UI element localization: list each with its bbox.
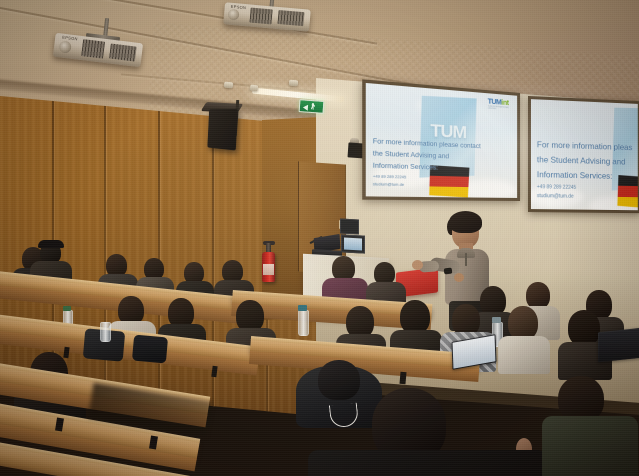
slide-right-email: studium@tum.de bbox=[537, 193, 574, 201]
slide-right: For more information pleas the Student A… bbox=[531, 99, 638, 210]
backpack bbox=[132, 335, 168, 364]
bottle-cap bbox=[492, 317, 501, 323]
exit-arrow-icon bbox=[303, 104, 308, 110]
bottle-cap bbox=[63, 306, 71, 311]
slide-left-line-3: Information Services: bbox=[373, 162, 438, 173]
slide-right-phone: +49 89 289 22245 bbox=[537, 184, 576, 192]
student-head bbox=[400, 300, 430, 334]
student-head bbox=[568, 310, 600, 346]
projector-vent bbox=[109, 44, 137, 62]
slide-right-line-1: For more information pleas bbox=[537, 139, 632, 153]
student-body bbox=[308, 450, 548, 476]
student-head bbox=[508, 306, 538, 340]
lecture-hall-photo: EPSON EPSON bbox=[0, 0, 639, 476]
cap-icon bbox=[38, 240, 64, 248]
german-flag-graphic bbox=[617, 175, 637, 209]
student-head bbox=[526, 282, 550, 309]
water-bottle bbox=[100, 322, 111, 342]
running-person-icon bbox=[311, 102, 315, 109]
ceiling-spotlight bbox=[250, 85, 259, 92]
presenter-wristwatch bbox=[444, 268, 453, 275]
projector-vent bbox=[81, 39, 105, 59]
projector-vent bbox=[249, 8, 272, 25]
wall-speaker bbox=[207, 109, 238, 151]
projector-left: EPSON bbox=[48, 18, 158, 70]
ceiling-spotlight bbox=[224, 82, 234, 89]
student-body-olive bbox=[542, 416, 638, 476]
presenter-hair bbox=[449, 211, 482, 233]
presenter-hand-gesturing bbox=[412, 260, 423, 270]
projector-body: EPSON bbox=[223, 2, 311, 31]
projector-vent bbox=[277, 10, 304, 26]
fire-extinguisher-label bbox=[263, 264, 274, 275]
student-head bbox=[318, 360, 360, 400]
water-bottle bbox=[298, 310, 309, 336]
emergency-exit-sign bbox=[299, 99, 325, 114]
slide-left-email: studium@tum.de bbox=[373, 182, 404, 188]
lectern-monitor-upper bbox=[340, 219, 359, 235]
presenter-hand-resting bbox=[454, 273, 464, 282]
fire-extinguisher bbox=[262, 252, 275, 282]
projector-body: EPSON bbox=[53, 33, 143, 68]
slide-left-line-2: the Student Advising and bbox=[373, 150, 449, 162]
slide-left: TUM TUMint TUM INTERNATIONAL CENTER For … bbox=[366, 83, 517, 198]
logo-subtitle: TUM INTERNATIONAL CENTER bbox=[488, 106, 517, 112]
bottle-cap bbox=[298, 305, 307, 311]
tum-int-logo: TUMint TUM INTERNATIONAL CENTER bbox=[488, 98, 517, 112]
student-body bbox=[498, 336, 550, 374]
slide-left-phone: +49 89 289 22245 bbox=[373, 174, 406, 181]
projector-lens bbox=[228, 9, 240, 21]
laptop bbox=[598, 328, 639, 363]
slide-right-line-3: Information Services: bbox=[537, 169, 613, 182]
projection-screen-left: TUM TUMint TUM INTERNATIONAL CENTER For … bbox=[362, 79, 520, 201]
presenter-zipper bbox=[465, 253, 467, 266]
ceiling-spotlight bbox=[289, 80, 298, 87]
slide-right-line-2: the Student Advising and bbox=[537, 154, 626, 168]
projector-right: EPSON bbox=[220, 0, 330, 46]
laptop-screen bbox=[599, 329, 639, 361]
bench-bracket bbox=[399, 372, 406, 384]
projection-screen-right: For more information pleas the Student A… bbox=[528, 96, 639, 213]
projector-lens bbox=[58, 40, 71, 53]
